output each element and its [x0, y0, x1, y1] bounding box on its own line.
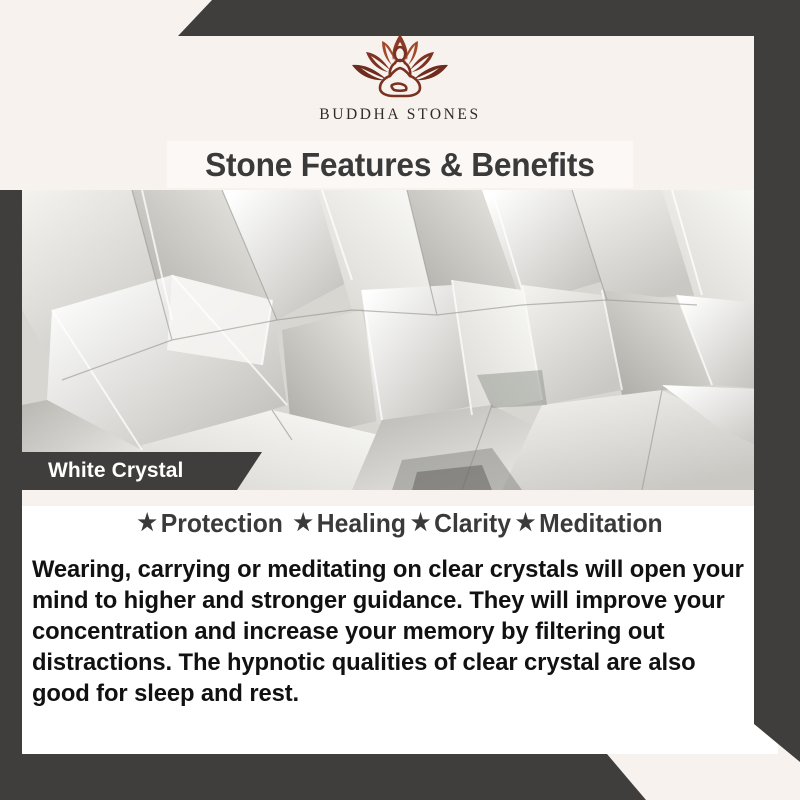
status-badge: White Crystal: [22, 452, 262, 490]
benefit-item-meditation: Meditation: [539, 508, 663, 539]
bottom-frame-bar: [0, 754, 800, 800]
lotus-meditation-icon: [344, 28, 456, 102]
benefit-item-clarity: Clarity: [434, 508, 511, 539]
brand-name: BUDDHA STONES: [319, 106, 480, 124]
benefit-item-protection: Protection: [161, 508, 283, 539]
description-text: Wearing, carrying or meditating on clear…: [32, 554, 750, 709]
crystal-name-label: White Crystal: [48, 459, 184, 483]
benefit-item-healing: Healing: [317, 508, 406, 539]
page-title: Stone Features & Benefits: [167, 141, 633, 188]
panel-top-tint: [22, 490, 778, 506]
benefits-list: ★Protection★Healing★Clarity★Meditation: [41, 508, 759, 539]
crystal-cluster-illustration: [22, 190, 778, 490]
star-icon: ★: [411, 509, 431, 536]
star-icon: ★: [516, 509, 536, 536]
content-panel: ★Protection★Healing★Clarity★Meditation W…: [22, 490, 778, 754]
star-icon: ★: [293, 509, 313, 536]
left-frame-bar: [0, 190, 22, 800]
page-title-text: Stone Features & Benefits: [205, 146, 595, 184]
infographic-canvas: BUDDHA STONES Stone Features & Benefits: [0, 0, 800, 800]
star-icon: ★: [137, 509, 157, 536]
brand-logo: BUDDHA STONES: [0, 28, 800, 124]
crystal-photo: [22, 190, 778, 490]
right-frame-bar: [754, 0, 800, 762]
